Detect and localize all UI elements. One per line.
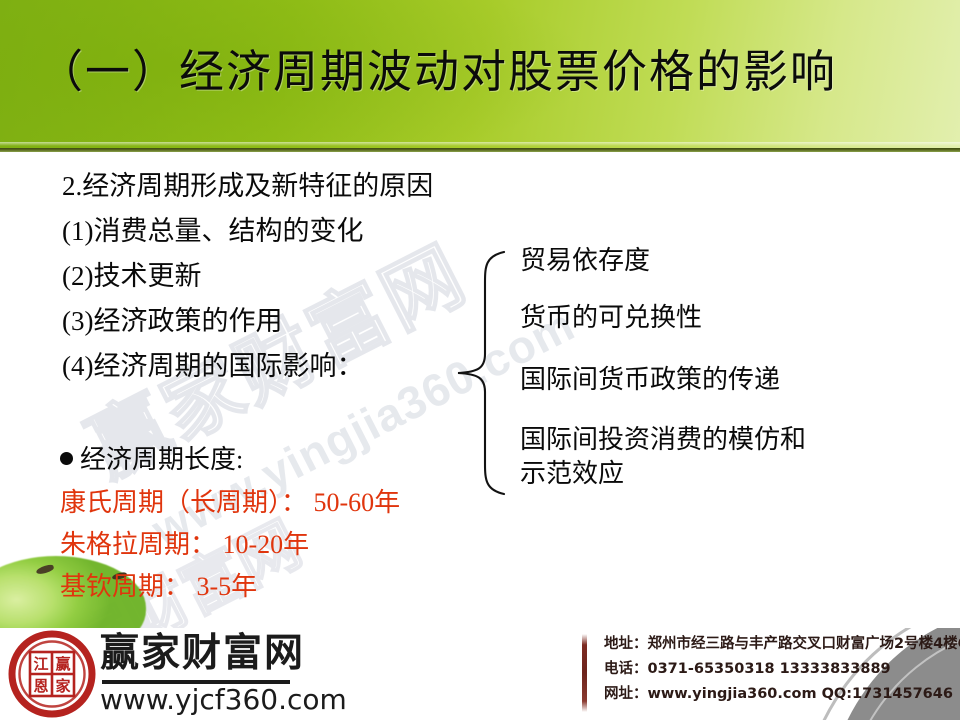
header-bottom-highlight xyxy=(0,142,960,146)
left-line-3: (3)经济政策的作用 xyxy=(62,299,482,344)
right-item-3: 国际间货币政策的传递 xyxy=(520,363,920,397)
contact-row-phone: 电话：0371-65350318 13333833889 xyxy=(604,657,960,682)
red-line-kitchin: 基钦周期： 3-5年 xyxy=(60,566,530,608)
contact-value-address: 郑州市经三路与丰产路交叉口财富广场2号楼4楼C户 xyxy=(648,636,960,652)
bullet-dot-icon xyxy=(60,452,73,465)
contact-row-website: 网址：www.yingjia360.com QQ:1731457646 xyxy=(604,682,960,707)
left-line-heading: 2.经济周期形成及新特征的原因 xyxy=(62,164,482,209)
contact-label-phone: 电话： xyxy=(604,661,648,677)
contact-label-website: 网址： xyxy=(604,686,648,702)
right-text-block: 贸易依存度 货币的可兑换性 国际间货币政策的传递 国际间投资消费的模仿和 示范效… xyxy=(520,244,920,491)
slide-canvas: （一）经济周期波动对股票价格的影响 赢家财富网 www.yingjia360.c… xyxy=(0,0,960,720)
curly-brace-icon xyxy=(452,248,512,498)
svg-text:家: 家 xyxy=(55,677,70,695)
svg-text:恩: 恩 xyxy=(33,677,48,695)
svg-text:江: 江 xyxy=(33,655,48,673)
company-seal-icon: 江 赢 恩 家 xyxy=(8,630,96,718)
brand-url[interactable]: www.yjcf360.com xyxy=(100,684,347,716)
contact-label-address: 地址： xyxy=(604,636,648,652)
svg-text:赢: 赢 xyxy=(55,655,70,673)
contact-row-address: 地址：郑州市经三路与丰产路交叉口财富广场2号楼4楼C户 xyxy=(604,632,960,657)
brand-name-cn[interactable]: 赢家财富网 xyxy=(100,632,305,676)
contact-info-block: 地址：郑州市经三路与丰产路交叉口财富广场2号楼4楼C户 电话：0371-6535… xyxy=(604,632,960,707)
cycle-length-heading-label: 经济周期长度: xyxy=(80,445,243,474)
right-item-4: 国际间投资消费的模仿和 xyxy=(520,423,920,457)
page-title: （一）经济周期波动对股票价格的影响 xyxy=(38,44,928,100)
left-line-2: (2)技术更新 xyxy=(62,254,482,299)
left-line-1: (1)消费总量、结构的变化 xyxy=(62,209,482,254)
right-item-2: 货币的可兑换性 xyxy=(520,301,920,335)
right-item-4-continued: 示范效应 xyxy=(520,457,920,491)
contact-value-website[interactable]: www.yingjia360.com QQ:1731457646 xyxy=(648,686,953,702)
right-item-1: 贸易依存度 xyxy=(520,244,920,278)
left-text-block: 2.经济周期形成及新特征的原因 (1)消费总量、结构的变化 (2)技术更新 (3… xyxy=(62,164,482,389)
header-divider-rule xyxy=(0,148,960,152)
footer-vertical-divider xyxy=(582,634,587,712)
red-line-juglar: 朱格拉周期： 10-20年 xyxy=(60,524,530,566)
contact-value-phone: 0371-65350318 13333833889 xyxy=(648,661,891,677)
left-line-4: (4)经济周期的国际影响： xyxy=(62,344,482,389)
